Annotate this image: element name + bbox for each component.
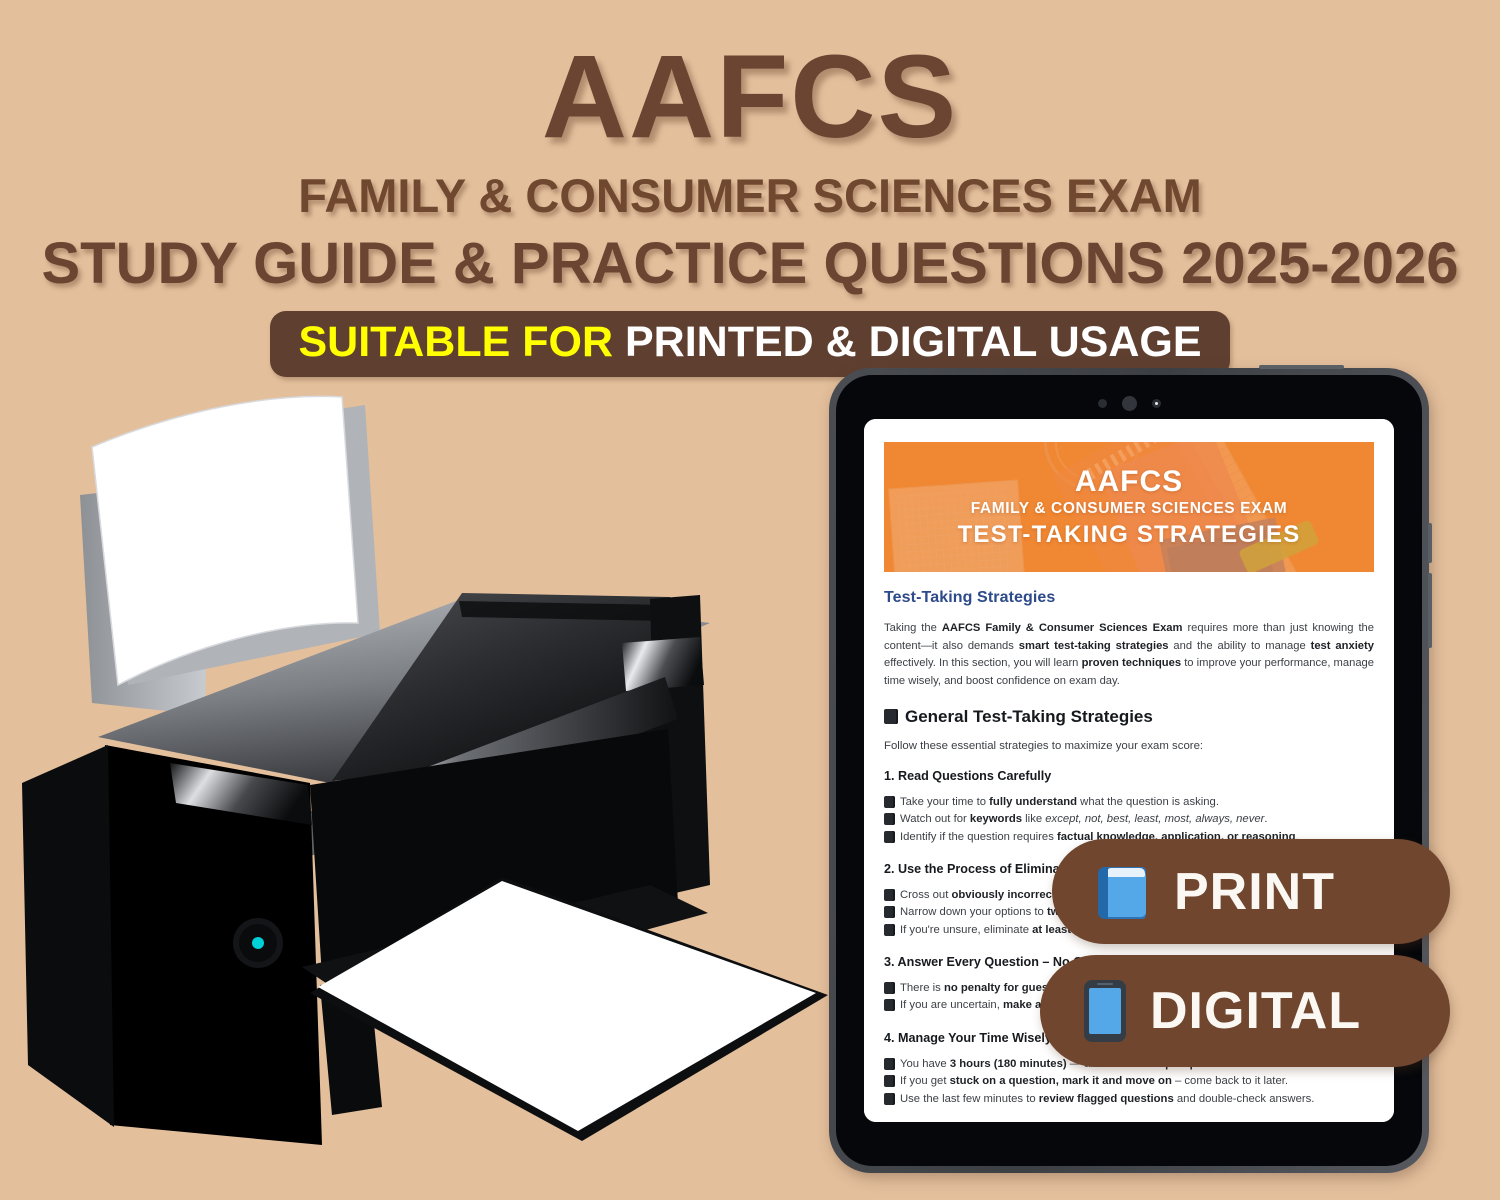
black-square-bullet-icon	[884, 1075, 895, 1087]
light-sensor-icon	[1152, 399, 1161, 408]
black-square-bullet-icon	[884, 831, 895, 843]
print-badge-label: PRINT	[1174, 862, 1335, 922]
strategy-bullet-item: Take your time to fully understand what …	[884, 794, 1374, 810]
intro-p4: effectively. In this section, you will l…	[884, 657, 1082, 669]
doc-intro-paragraph: Taking the AAFCS Family & Consumer Scien…	[884, 620, 1374, 691]
phone-icon	[1084, 980, 1126, 1042]
document-banner: AAFCS FAMILY & CONSUMER SCIENCES EXAM TE…	[884, 442, 1374, 572]
banner-text-block: AAFCS FAMILY & CONSUMER SCIENCES EXAM TE…	[884, 442, 1374, 572]
doc-follow-text: Follow these essential strategies to max…	[884, 740, 1374, 752]
intro-p3: and the ability to manage	[1169, 640, 1311, 652]
black-square-bullet-icon	[884, 906, 895, 918]
banner-title: AAFCS	[1075, 466, 1183, 498]
black-square-bullet-icon	[884, 982, 895, 994]
sensor-icon	[1098, 399, 1107, 408]
strategy-bullet-item: If you get stuck on a question, mark it …	[884, 1073, 1374, 1089]
black-square-bullet-icon	[884, 813, 895, 825]
front-camera-icon	[1122, 396, 1137, 411]
strategy-bullet-item: Watch out for keywords like except, not,…	[884, 811, 1374, 827]
black-square-bullet-icon	[884, 1093, 895, 1105]
black-square-bullet-icon	[884, 1058, 895, 1070]
strategy-group-heading: 1. Read Questions Carefully	[884, 769, 1374, 783]
header-block: AAFCS FAMILY & CONSUMER SCIENCES EXAM ST…	[0, 0, 1500, 360]
exam-subtitle: FAMILY & CONSUMER SCIENCES EXAM	[0, 172, 1500, 219]
digital-badge[interactable]: DIGITAL	[1040, 955, 1450, 1067]
printer-left-side	[22, 745, 114, 1127]
black-square-bullet-icon	[884, 889, 895, 901]
doc-general-heading-row: General Test-Taking Strategies	[884, 707, 1374, 727]
doc-section-title: Test-Taking Strategies	[884, 589, 1374, 607]
suitable-highlight: SUITABLE FOR	[298, 318, 613, 366]
strategy-bullet-text: Use the last few minutes to review flagg…	[900, 1091, 1374, 1107]
intro-b1: AAFCS Family & Consumer Sciences Exam	[942, 622, 1183, 634]
black-square-bullet-icon	[884, 709, 898, 724]
strategy-bullet-text: If you get stuck on a question, mark it …	[900, 1073, 1374, 1089]
intro-b2: smart test-taking strategies	[1019, 640, 1169, 652]
book-icon	[1096, 863, 1150, 921]
strategy-bullet-text: Take your time to fully understand what …	[900, 794, 1374, 810]
printer-illustration	[10, 385, 840, 1145]
tablet-volume-up-button[interactable]	[1428, 523, 1432, 563]
strategy-bullet-text: Watch out for keywords like except, not,…	[900, 811, 1374, 827]
strategy-bullet-item: Use the last few minutes to review flagg…	[884, 1091, 1374, 1107]
tablet-top-button[interactable]	[1259, 365, 1344, 369]
brand-title: AAFCS	[0, 38, 1500, 156]
tablet-volume-down-button[interactable]	[1428, 573, 1432, 648]
suitable-rest: PRINTED & DIGITAL USAGE	[613, 318, 1202, 366]
intro-b3: test anxiety	[1311, 640, 1374, 652]
printer-svg	[10, 385, 840, 1145]
digital-badge-label: DIGITAL	[1150, 981, 1361, 1041]
doc-general-heading: General Test-Taking Strategies	[905, 707, 1153, 727]
intro-p1: Taking the	[884, 622, 942, 634]
banner-heading: TEST-TAKING STRATEGIES	[958, 521, 1301, 549]
guide-subtitle: STUDY GUIDE & PRACTICE QUESTIONS 2025-20…	[0, 235, 1500, 293]
banner-subtitle: FAMILY & CONSUMER SCIENCES EXAM	[971, 497, 1288, 520]
black-square-bullet-icon	[884, 924, 895, 936]
black-square-bullet-icon	[884, 796, 895, 808]
strategy-bullet-list: Take your time to fully understand what …	[884, 794, 1374, 845]
tablet-camera-cluster	[836, 395, 1422, 411]
intro-b4: proven techniques	[1082, 657, 1182, 669]
print-badge[interactable]: PRINT	[1052, 839, 1450, 944]
power-led-icon	[252, 937, 264, 949]
black-square-bullet-icon	[884, 999, 895, 1011]
